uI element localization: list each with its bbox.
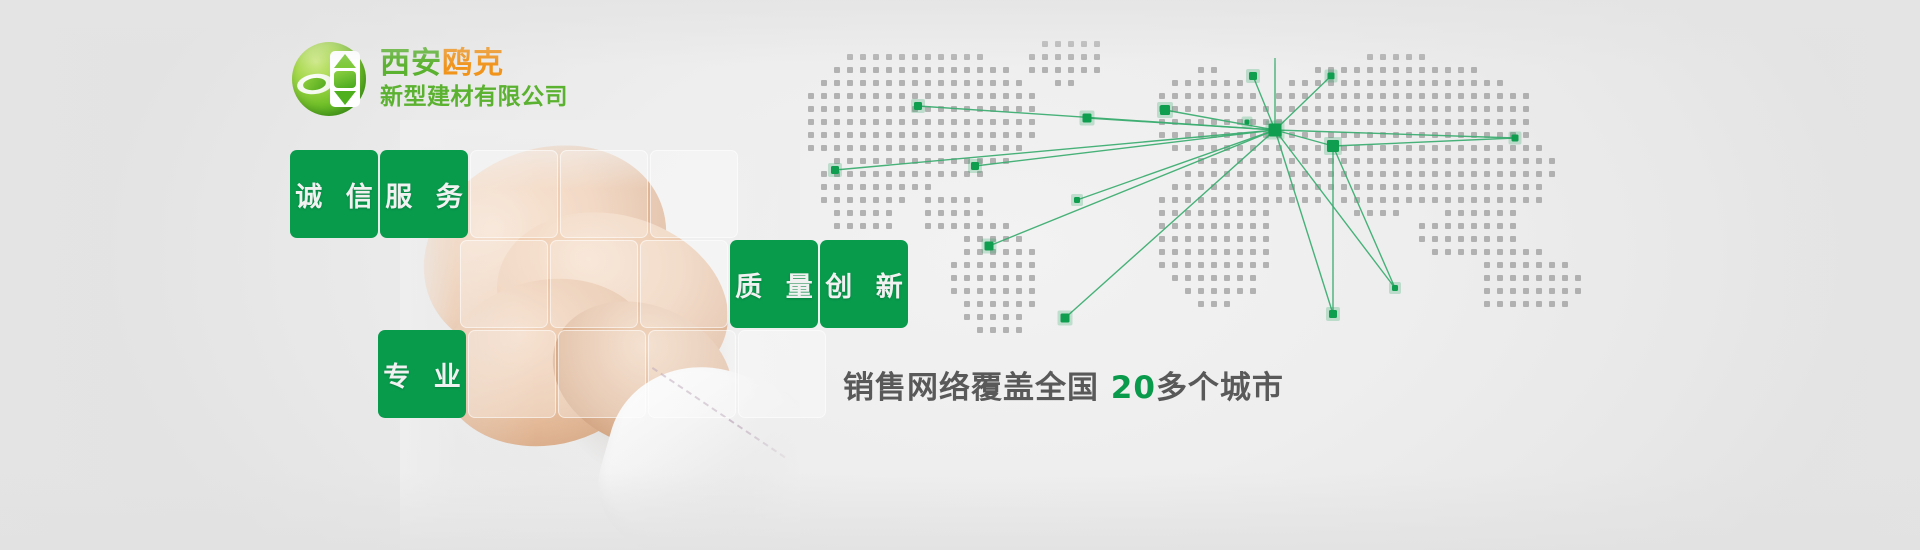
map-dot xyxy=(1549,301,1555,307)
map-dot xyxy=(1458,210,1464,216)
map-dot xyxy=(847,132,853,138)
map-dot xyxy=(912,67,918,73)
map-dot xyxy=(977,119,983,125)
map-city-node[interactable] xyxy=(1160,105,1170,115)
map-dot xyxy=(912,119,918,125)
map-dot xyxy=(1458,223,1464,229)
map-dot xyxy=(1341,80,1347,86)
map-dot xyxy=(1471,67,1477,73)
map-dot xyxy=(1003,93,1009,99)
map-dot xyxy=(977,80,983,86)
map-dot xyxy=(1263,197,1269,203)
map-city-node[interactable] xyxy=(971,162,979,170)
map-dot xyxy=(1354,158,1360,164)
map-dot xyxy=(1497,145,1503,151)
map-dot xyxy=(1497,288,1503,294)
map-dot xyxy=(886,119,892,125)
map-dot xyxy=(938,223,944,229)
map-dot xyxy=(977,54,983,60)
map-dot xyxy=(1380,158,1386,164)
map-dot xyxy=(1237,80,1243,86)
map-city-node[interactable] xyxy=(1328,73,1335,80)
map-dot xyxy=(990,314,996,320)
map-link xyxy=(1333,146,1395,288)
map-dot xyxy=(1549,262,1555,268)
map-dot xyxy=(1250,236,1256,242)
map-dot xyxy=(1484,184,1490,190)
map-dot xyxy=(1406,171,1412,177)
map-dot xyxy=(1029,93,1035,99)
map-dot xyxy=(1562,275,1568,281)
value-tile-1: 服 务 xyxy=(380,150,468,238)
map-dot xyxy=(951,197,957,203)
map-dot xyxy=(1211,249,1217,255)
map-dot xyxy=(1536,145,1542,151)
map-dot xyxy=(1042,67,1048,73)
map-dot xyxy=(990,301,996,307)
map-dot xyxy=(1237,171,1243,177)
value-tile-label: 诚 信 xyxy=(290,150,378,238)
map-dot xyxy=(1185,275,1191,281)
map-dot xyxy=(1302,184,1308,190)
map-dot xyxy=(1406,106,1412,112)
map-dot xyxy=(951,132,957,138)
map-dot xyxy=(860,197,866,203)
mosaic-glass-tile xyxy=(460,240,548,328)
map-dot xyxy=(1471,210,1477,216)
map-dot xyxy=(977,145,983,151)
map-city-node[interactable] xyxy=(1327,140,1339,152)
map-dot xyxy=(847,67,853,73)
map-dot xyxy=(1497,197,1503,203)
map-dot xyxy=(951,67,957,73)
map-dot xyxy=(938,54,944,60)
map-dot xyxy=(1471,158,1477,164)
map-dot xyxy=(886,197,892,203)
map-dot xyxy=(847,171,853,177)
map-dot xyxy=(1016,275,1022,281)
hero-banner: 诚 信服 务质 量创 新专 业 西安鸥克 新型建材有限公司 销售网络覆盖全国 2… xyxy=(0,0,1920,550)
map-dot xyxy=(1523,93,1529,99)
map-dot xyxy=(925,67,931,73)
map-dot xyxy=(1523,158,1529,164)
map-dot xyxy=(1380,80,1386,86)
logo-line-1: 西安鸥克 xyxy=(380,49,568,79)
map-city-node[interactable] xyxy=(985,242,994,251)
map-dot xyxy=(938,197,944,203)
map-dot xyxy=(1159,236,1165,242)
map-dot xyxy=(1380,171,1386,177)
map-dot xyxy=(1445,249,1451,255)
map-dot xyxy=(1185,288,1191,294)
map-dot xyxy=(1510,106,1516,112)
map-dot xyxy=(1237,145,1243,151)
map-dot xyxy=(1471,223,1477,229)
map-dot xyxy=(1393,67,1399,73)
map-dot xyxy=(1328,106,1334,112)
map-dot xyxy=(1055,80,1061,86)
map-dot xyxy=(873,119,879,125)
map-dot xyxy=(977,67,983,73)
map-dot xyxy=(1393,132,1399,138)
map-dot xyxy=(1263,145,1269,151)
map-city-node[interactable] xyxy=(1245,120,1250,125)
map-dot xyxy=(1198,80,1204,86)
map-dot xyxy=(1237,106,1243,112)
map-dot xyxy=(1029,106,1035,112)
map-dot xyxy=(1497,158,1503,164)
map-dot xyxy=(1003,275,1009,281)
map-dot xyxy=(925,132,931,138)
map-dot xyxy=(873,171,879,177)
map-dot xyxy=(886,54,892,60)
map-city-node[interactable] xyxy=(1392,285,1398,291)
map-dot xyxy=(1016,314,1022,320)
map-dot xyxy=(1510,236,1516,242)
map-dot xyxy=(1393,184,1399,190)
map-dot xyxy=(1484,119,1490,125)
mosaic-glass-tile xyxy=(640,240,728,328)
map-dot xyxy=(808,106,814,112)
company-logo[interactable]: 西安鸥克 新型建材有限公司 xyxy=(292,42,568,116)
map-dot xyxy=(899,80,905,86)
map-city-node[interactable] xyxy=(1083,114,1092,123)
mosaic-glass-tile xyxy=(560,150,648,238)
map-dot xyxy=(834,80,840,86)
map-dot xyxy=(1497,119,1503,125)
map-dot xyxy=(1068,41,1074,47)
map-city-node[interactable] xyxy=(1512,135,1519,142)
map-dot xyxy=(1250,210,1256,216)
map-dot xyxy=(1016,301,1022,307)
map-dot xyxy=(834,67,840,73)
map-dot xyxy=(1393,106,1399,112)
map-dot xyxy=(1237,262,1243,268)
map-dot xyxy=(1224,184,1230,190)
map-dot xyxy=(964,301,970,307)
map-dot xyxy=(1523,262,1529,268)
map-dot xyxy=(1172,249,1178,255)
map-dot xyxy=(1523,145,1529,151)
map-dot xyxy=(834,184,840,190)
map-dot xyxy=(1354,119,1360,125)
map-dot xyxy=(1211,158,1217,164)
map-dot xyxy=(873,54,879,60)
map-dot xyxy=(1172,145,1178,151)
map-dot xyxy=(1224,275,1230,281)
map-dot xyxy=(834,119,840,125)
map-dot xyxy=(1016,288,1022,294)
map-dot xyxy=(977,132,983,138)
map-dot xyxy=(1250,106,1256,112)
map-dot xyxy=(1003,67,1009,73)
map-dot xyxy=(1029,262,1035,268)
value-tile-label: 服 务 xyxy=(380,150,468,238)
map-dot xyxy=(860,132,866,138)
map-dot xyxy=(1315,106,1321,112)
map-dot xyxy=(1172,80,1178,86)
map-dot xyxy=(873,210,879,216)
map-dot xyxy=(977,210,983,216)
map-dot xyxy=(1393,119,1399,125)
map-dot xyxy=(1458,106,1464,112)
map-dot xyxy=(1393,93,1399,99)
map-dot xyxy=(1432,184,1438,190)
map-dot xyxy=(1003,288,1009,294)
map-dot xyxy=(1029,132,1035,138)
map-dot xyxy=(1003,80,1009,86)
map-dot xyxy=(990,275,996,281)
map-dot xyxy=(1250,171,1256,177)
map-dot xyxy=(1510,210,1516,216)
map-dot xyxy=(1419,158,1425,164)
map-dot xyxy=(951,288,957,294)
map-dot xyxy=(925,80,931,86)
map-dot xyxy=(1341,67,1347,73)
map-dot xyxy=(964,223,970,229)
map-dot xyxy=(1263,158,1269,164)
map-city-node[interactable] xyxy=(1269,124,1282,137)
map-dot xyxy=(1016,132,1022,138)
map-dot xyxy=(1224,106,1230,112)
mosaic-glass-tile xyxy=(468,330,556,418)
map-dot xyxy=(1536,262,1542,268)
map-dot xyxy=(1432,145,1438,151)
value-tile-label: 专 业 xyxy=(378,330,466,418)
map-dot xyxy=(1328,93,1334,99)
map-dot xyxy=(1211,210,1217,216)
map-dot xyxy=(1250,158,1256,164)
map-dot xyxy=(1003,249,1009,255)
map-city-node[interactable] xyxy=(831,166,839,174)
map-dot xyxy=(1419,197,1425,203)
map-dot xyxy=(1029,119,1035,125)
map-dot xyxy=(1484,80,1490,86)
map-dot xyxy=(1432,93,1438,99)
map-dot xyxy=(1380,119,1386,125)
map-dot xyxy=(1224,210,1230,216)
map-city-node[interactable] xyxy=(914,102,922,110)
map-dot xyxy=(1510,275,1516,281)
map-dot xyxy=(1029,249,1035,255)
map-dot xyxy=(1380,210,1386,216)
map-dot xyxy=(1445,223,1451,229)
map-dot xyxy=(1250,288,1256,294)
map-dot xyxy=(1185,236,1191,242)
map-link xyxy=(1275,130,1333,314)
map-dot xyxy=(1289,93,1295,99)
map-dot xyxy=(808,119,814,125)
caption-prefix: 销售网络覆盖全国 xyxy=(843,370,1111,406)
map-dot xyxy=(1029,67,1035,73)
map-dot xyxy=(821,145,827,151)
map-dot xyxy=(1198,262,1204,268)
map-city-node[interactable] xyxy=(1329,310,1337,318)
map-dot xyxy=(1562,262,1568,268)
map-dot xyxy=(1406,197,1412,203)
map-dot xyxy=(977,327,983,333)
map-dot xyxy=(1185,223,1191,229)
map-dot xyxy=(873,145,879,151)
map-dot xyxy=(1224,262,1230,268)
map-dot xyxy=(1185,197,1191,203)
map-dot xyxy=(977,275,983,281)
map-dot xyxy=(834,145,840,151)
map-dot xyxy=(977,314,983,320)
map-dot xyxy=(938,171,944,177)
map-dot xyxy=(925,93,931,99)
map-dot xyxy=(847,197,853,203)
map-dot xyxy=(899,132,905,138)
map-dot xyxy=(1341,119,1347,125)
map-dot xyxy=(1562,301,1568,307)
map-dot xyxy=(847,93,853,99)
map-dot xyxy=(1458,145,1464,151)
map-dot xyxy=(1536,171,1542,177)
map-dot xyxy=(1250,275,1256,281)
map-city-node[interactable] xyxy=(1061,314,1070,323)
map-dot xyxy=(1198,210,1204,216)
map-dot xyxy=(821,80,827,86)
map-dot xyxy=(834,210,840,216)
map-dot xyxy=(1237,210,1243,216)
map-dot xyxy=(1016,80,1022,86)
map-dot xyxy=(1198,67,1204,73)
map-dot xyxy=(1523,275,1529,281)
map-dot xyxy=(886,223,892,229)
map-dot xyxy=(1250,223,1256,229)
map-dot xyxy=(1406,119,1412,125)
map-dot xyxy=(1497,301,1503,307)
map-dot xyxy=(1211,236,1217,242)
map-dot xyxy=(1445,80,1451,86)
map-dot xyxy=(1341,158,1347,164)
map-dot xyxy=(1211,197,1217,203)
map-dot xyxy=(1094,67,1100,73)
map-dot xyxy=(1315,119,1321,125)
map-dot xyxy=(1367,184,1373,190)
map-dot xyxy=(1068,54,1074,60)
map-dot xyxy=(1172,236,1178,242)
map-dot xyxy=(1432,171,1438,177)
map-dot-grid xyxy=(808,41,1581,333)
map-dot xyxy=(1172,275,1178,281)
map-dot xyxy=(1484,171,1490,177)
map-dot xyxy=(1367,210,1373,216)
map-dot xyxy=(912,184,918,190)
map-dot xyxy=(912,132,918,138)
map-dot xyxy=(938,119,944,125)
map-dot xyxy=(912,171,918,177)
logo-text: 西安鸥克 新型建材有限公司 xyxy=(380,49,568,109)
map-dot xyxy=(977,262,983,268)
map-dot xyxy=(1510,171,1516,177)
map-dot xyxy=(847,158,853,164)
map-dot xyxy=(1250,93,1256,99)
map-dot xyxy=(1042,41,1048,47)
map-dot xyxy=(1549,275,1555,281)
map-dot xyxy=(1406,67,1412,73)
map-dot xyxy=(1211,171,1217,177)
map-dot xyxy=(1419,67,1425,73)
map-dot xyxy=(1003,301,1009,307)
map-dot xyxy=(1172,184,1178,190)
map-city-node[interactable] xyxy=(1074,197,1080,203)
map-dot xyxy=(1185,262,1191,268)
map-dot xyxy=(873,132,879,138)
map-dot xyxy=(1302,106,1308,112)
map-dot xyxy=(1081,54,1087,60)
map-dot xyxy=(1536,288,1542,294)
map-dot xyxy=(1523,249,1529,255)
map-dot xyxy=(1367,93,1373,99)
map-dot xyxy=(1159,132,1165,138)
map-dot xyxy=(1432,67,1438,73)
map-dot xyxy=(1003,327,1009,333)
map-dot xyxy=(990,132,996,138)
map-dot xyxy=(821,106,827,112)
map-city-node[interactable] xyxy=(1249,72,1257,80)
map-dot xyxy=(1185,145,1191,151)
map-dot xyxy=(1302,197,1308,203)
map-dot xyxy=(938,132,944,138)
map-dot xyxy=(1315,158,1321,164)
map-dot xyxy=(886,132,892,138)
map-dot xyxy=(964,145,970,151)
map-dot xyxy=(1393,210,1399,216)
map-dot xyxy=(1172,197,1178,203)
map-dot xyxy=(1432,106,1438,112)
map-dot xyxy=(1302,119,1308,125)
map-dot xyxy=(1419,119,1425,125)
map-dot xyxy=(1198,236,1204,242)
map-dot xyxy=(964,288,970,294)
map-dot xyxy=(1250,184,1256,190)
map-dot xyxy=(1042,54,1048,60)
map-dot xyxy=(1224,158,1230,164)
map-dot xyxy=(1185,171,1191,177)
map-dot xyxy=(938,145,944,151)
map-dot xyxy=(1250,249,1256,255)
map-dot xyxy=(1354,93,1360,99)
map-dot xyxy=(1003,132,1009,138)
map-dot xyxy=(1458,67,1464,73)
map-dot xyxy=(1211,67,1217,73)
map-dot xyxy=(834,132,840,138)
map-dot xyxy=(821,132,827,138)
map-dot xyxy=(1237,184,1243,190)
value-tile-10: 专 业 xyxy=(378,330,466,418)
map-dot xyxy=(1224,301,1230,307)
map-dot xyxy=(1419,223,1425,229)
map-dot xyxy=(1497,249,1503,255)
map-dot xyxy=(847,80,853,86)
map-dot xyxy=(1484,249,1490,255)
map-dot xyxy=(1016,327,1022,333)
map-dot xyxy=(1510,262,1516,268)
map-dot xyxy=(1341,106,1347,112)
map-dot xyxy=(1458,93,1464,99)
map-dot xyxy=(1159,197,1165,203)
map-dot xyxy=(1276,106,1282,112)
map-dot xyxy=(925,145,931,151)
map-dot xyxy=(1484,262,1490,268)
map-dot xyxy=(1471,80,1477,86)
map-dot xyxy=(886,93,892,99)
map-dot xyxy=(860,223,866,229)
map-dot xyxy=(951,80,957,86)
map-dot xyxy=(1367,106,1373,112)
